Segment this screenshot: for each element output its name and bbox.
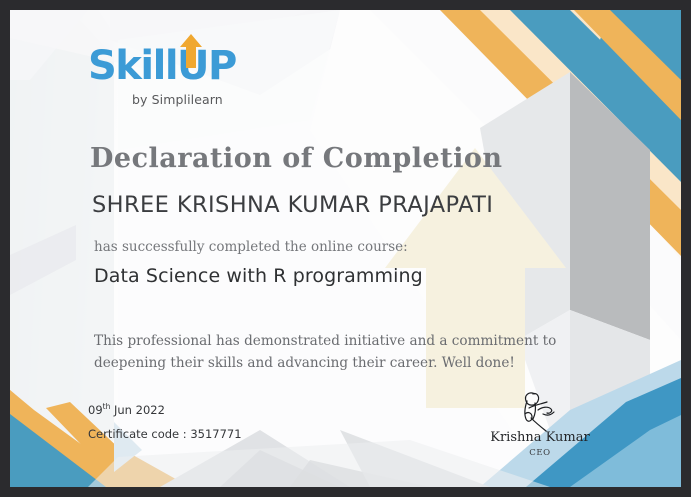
- signatory-name: Krishna Kumar: [465, 430, 615, 445]
- completion-line: has successfully completed the online co…: [94, 239, 408, 255]
- certificate-code-label: Certificate code :: [88, 427, 190, 441]
- logo-subtitle: by Simplilearn: [132, 92, 248, 107]
- course-name: Data Science with R programming: [94, 265, 423, 287]
- issue-date-month-year: Jun 2022: [114, 403, 165, 417]
- logo-word-primary: Skill: [88, 43, 177, 89]
- certificate-canvas: SkillUP by Simplilearn Declaration of Co…: [10, 10, 681, 487]
- issue-date: 09th Jun 2022: [88, 402, 242, 417]
- skillup-logo: SkillUP by Simplilearn: [88, 46, 248, 107]
- issue-details: 09th Jun 2022 Certificate code : 3517771: [88, 402, 242, 441]
- handwritten-signature-icon: [465, 388, 615, 432]
- signature-block: Krishna Kumar CEO: [465, 388, 615, 458]
- issue-date-ordinal: th: [103, 402, 111, 411]
- certificate-content: SkillUP by Simplilearn Declaration of Co…: [10, 10, 681, 487]
- body-paragraph: This professional has demonstrated initi…: [94, 330, 604, 375]
- certificate-frame: SkillUP by Simplilearn Declaration of Co…: [0, 0, 691, 497]
- logo-wordmark: SkillUP: [88, 46, 248, 86]
- page-title-text: Declaration of Completion: [90, 143, 503, 174]
- certificate-code-value: 3517771: [190, 427, 241, 441]
- issue-date-day: 09: [88, 403, 103, 417]
- page-title: Declaration of Completion: [90, 143, 503, 174]
- recipient-name: SHREE KRISHNA KUMAR PRAJAPATI: [92, 192, 493, 218]
- signatory-role: CEO: [465, 448, 615, 458]
- up-arrow-icon: [180, 34, 202, 68]
- certificate-code-row: Certificate code : 3517771: [88, 427, 242, 441]
